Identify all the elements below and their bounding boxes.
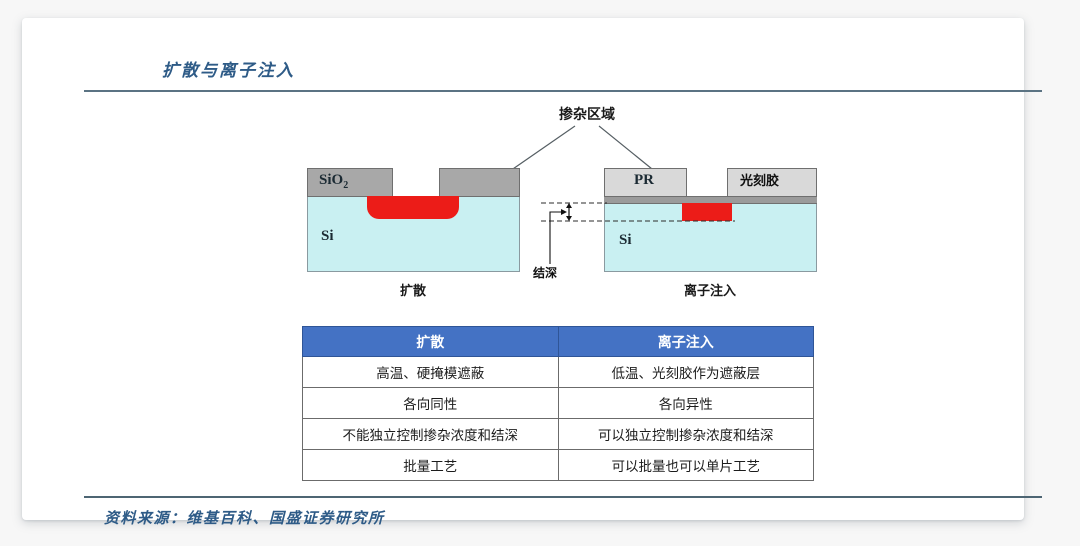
left-doped-region bbox=[367, 196, 459, 219]
cell-diffusion-isotropy: 各向同性 bbox=[303, 388, 559, 419]
table-row: 不能独立控制掺杂浓度和结深 可以独立控制掺杂浓度和结深 bbox=[303, 419, 814, 450]
table-header-diffusion: 扩散 bbox=[303, 327, 559, 357]
ion-implantation-caption: 离子注入 bbox=[660, 280, 760, 299]
doping-process-diagram: 掺杂区域 SiO2 Si 扩散 bbox=[297, 104, 837, 309]
comparison-table: 扩散 离子注入 高温、硬掩模遮蔽 低温、光刻胶作为遮蔽层 各向同性 各向异性 不… bbox=[302, 326, 814, 481]
photoresist-label-cn: 光刻胶 bbox=[740, 170, 779, 189]
photoresist-label-pr: PR bbox=[634, 172, 654, 189]
table-row: 批量工艺 可以批量也可以单片工艺 bbox=[303, 450, 814, 481]
photoresist-label-cn-wrap: 光刻胶 bbox=[740, 170, 779, 189]
source-note: 资料来源：维基百科、国盛证券研究所 bbox=[104, 507, 385, 528]
doped-region-callout-label: 掺杂区域 bbox=[527, 104, 647, 124]
cell-implantation-control: 可以独立控制掺杂浓度和结深 bbox=[558, 419, 814, 450]
cell-implantation-batch: 可以批量也可以单片工艺 bbox=[558, 450, 814, 481]
footer-divider bbox=[84, 496, 1042, 498]
diffusion-caption: 扩散 bbox=[363, 280, 463, 299]
header-divider bbox=[84, 90, 1042, 92]
cell-diffusion-control: 不能独立控制掺杂浓度和结深 bbox=[303, 419, 559, 450]
slide-card: 扩散与离子注入 掺杂区域 Si bbox=[22, 18, 1024, 520]
right-doped-region bbox=[682, 203, 732, 221]
cell-implantation-temperature-mask: 低温、光刻胶作为遮蔽层 bbox=[558, 357, 814, 388]
table-header-implantation: 离子注入 bbox=[558, 327, 814, 357]
cell-diffusion-batch: 批量工艺 bbox=[303, 450, 559, 481]
oxide-mask-label: SiO2 bbox=[319, 172, 348, 191]
table-header-row: 扩散 离子注入 bbox=[303, 327, 814, 357]
table-row: 高温、硬掩模遮蔽 低温、光刻胶作为遮蔽层 bbox=[303, 357, 814, 388]
right-substrate-label: Si bbox=[619, 232, 632, 249]
slide-screenshot: 扩散与离子注入 掺杂区域 Si bbox=[0, 0, 1080, 546]
table-row: 各向同性 各向异性 bbox=[303, 388, 814, 419]
page-title: 扩散与离子注入 bbox=[162, 56, 295, 81]
junction-depth-label: 结深 bbox=[533, 264, 557, 281]
left-substrate-label: Si bbox=[321, 228, 334, 245]
cell-implantation-isotropy: 各向异性 bbox=[558, 388, 814, 419]
left-oxide-mask-segment-2 bbox=[439, 168, 520, 197]
cell-diffusion-temperature-mask: 高温、硬掩模遮蔽 bbox=[303, 357, 559, 388]
